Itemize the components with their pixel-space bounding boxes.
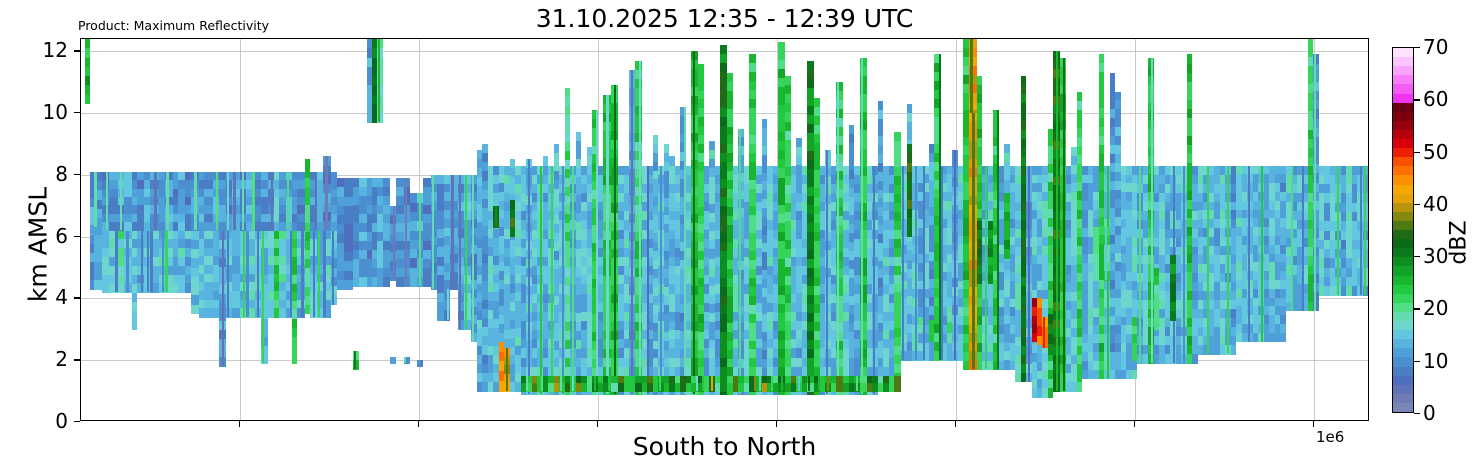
reflectivity-cell	[739, 129, 741, 395]
reflectivity-cell	[1231, 345, 1236, 355]
reflectivity-cell	[359, 277, 367, 287]
reflectivity-cell	[271, 172, 273, 231]
reflectivity-cell	[94, 172, 97, 228]
reflectivity-cell	[109, 222, 118, 231]
reflectivity-cell	[1043, 317, 1045, 348]
reflectivity-cell	[572, 376, 574, 391]
reflectivity-cell	[178, 283, 185, 292]
reflectivity-cell	[941, 166, 943, 361]
reflectivity-cell	[1063, 58, 1065, 392]
reflectivity-cell	[219, 222, 226, 231]
reflectivity-cell	[404, 357, 406, 363]
reflectivity-cell	[102, 283, 109, 292]
reflectivity-cell	[562, 166, 564, 395]
reflectivity-cell	[222, 231, 224, 367]
reflectivity-cell	[447, 289, 449, 320]
reflectivity-cell	[287, 172, 289, 231]
reflectivity-cell	[292, 354, 297, 363]
reflectivity-cell	[808, 376, 810, 391]
reflectivity-cell	[526, 376, 528, 391]
reflectivity-cell	[166, 172, 169, 231]
reflectivity-cell	[354, 351, 356, 370]
reflectivity-cell	[873, 166, 875, 395]
reflectivity-cell	[827, 376, 829, 391]
reflectivity-cell	[1192, 354, 1198, 364]
reflectivity-cell	[191, 305, 199, 315]
reflectivity-cell	[297, 222, 305, 231]
reflectivity-cell	[551, 166, 553, 395]
reflectivity-cell	[711, 376, 713, 391]
reflectivity-cell	[1183, 166, 1185, 364]
reflectivity-cell	[232, 308, 240, 317]
reflectivity-cell	[972, 113, 975, 369]
reflectivity-cell	[124, 222, 132, 231]
reflectivity-cell	[647, 166, 649, 395]
reflectivity-cell	[954, 150, 956, 360]
reflectivity-cell	[323, 231, 326, 317]
reflectivity-cell	[313, 231, 315, 317]
reflectivity-cell	[826, 150, 828, 394]
reflectivity-cell	[410, 277, 417, 287]
reflectivity-cell	[902, 166, 904, 361]
reflectivity-cell	[560, 376, 562, 391]
reflectivity-cell	[506, 348, 508, 391]
reflectivity-cell	[894, 383, 901, 391]
reflectivity-cell	[325, 156, 328, 230]
reflectivity-cell	[915, 166, 917, 361]
reflectivity-cell	[246, 231, 249, 317]
reflectivity-cell	[204, 222, 213, 231]
reflectivity-cell	[611, 383, 618, 391]
reflectivity-cell	[390, 357, 396, 364]
reflectivity-cell	[262, 231, 264, 364]
reflectivity-cell	[216, 172, 218, 231]
reflectivity-cell	[836, 383, 843, 391]
reflectivity-cell	[318, 231, 320, 317]
reflectivity-cell	[693, 51, 695, 394]
reflectivity-cell	[279, 222, 286, 231]
reflectivity-cell	[1105, 227, 1107, 280]
reflectivity-cell	[378, 39, 380, 122]
reflectivity-cell	[233, 172, 236, 231]
reflectivity-cell	[150, 231, 153, 293]
reflectivity-cell	[1139, 166, 1141, 364]
reflectivity-cell	[242, 172, 244, 231]
reflectivity-cell	[120, 172, 122, 231]
reflectivity-cell	[178, 222, 185, 231]
reflectivity-cell	[261, 222, 268, 231]
reflectivity-cell	[540, 166, 542, 395]
reflectivity-cell	[472, 175, 474, 342]
reflectivity-cell	[923, 166, 925, 361]
reflectivity-cell	[1056, 51, 1058, 391]
reflectivity-cell	[459, 175, 461, 329]
reflectivity-cell	[227, 172, 229, 231]
reflectivity-cell	[301, 231, 304, 317]
reflectivity-cell	[985, 166, 987, 370]
reflectivity-cell	[243, 231, 245, 317]
reflectivity-cell	[1077, 382, 1082, 392]
reflectivity-cell	[279, 308, 286, 317]
reflectivity-cell	[405, 178, 407, 286]
reflectivity-cell	[344, 280, 353, 290]
reflectivity-cell	[495, 206, 497, 228]
reflectivity-cell	[1028, 166, 1030, 382]
reflectivity-cell	[421, 360, 423, 366]
reflectivity-cell	[594, 376, 596, 391]
reflectivity-cell	[126, 231, 129, 293]
reflectivity-data-layer	[81, 39, 1368, 420]
reflectivity-cell	[1227, 166, 1229, 354]
reflectivity-cell	[85, 95, 90, 105]
reflectivity-cell	[257, 231, 259, 317]
reflectivity-cell	[572, 166, 574, 395]
reflectivity-cell	[419, 193, 421, 286]
reflectivity-cell	[606, 95, 609, 395]
reflectivity-cell	[720, 383, 727, 391]
reflectivity-cell	[528, 159, 530, 394]
reflectivity-cell	[94, 280, 102, 290]
reflectivity-cell	[396, 277, 404, 287]
reflectivity-cell	[861, 58, 863, 395]
reflectivity-cell	[451, 175, 454, 289]
reflectivity-cell	[465, 175, 467, 329]
reflectivity-cell	[106, 172, 108, 231]
reflectivity-cell	[154, 172, 157, 231]
reflectivity-cell	[147, 231, 149, 293]
reflectivity-cell	[759, 376, 761, 391]
reflectivity-cell	[659, 376, 661, 391]
reflectivity-cell	[798, 376, 800, 391]
reflectivity-cell	[860, 383, 867, 391]
reflectivity-cell	[393, 206, 395, 280]
reflectivity-cell	[337, 280, 344, 290]
reflectivity-cell	[781, 376, 783, 391]
reflectivity-cell	[1151, 58, 1153, 364]
reflectivity-cell	[165, 231, 168, 293]
reflectivity-cell	[856, 376, 858, 391]
reflectivity-cell	[194, 172, 197, 231]
reflectivity-cell	[204, 308, 213, 317]
reflectivity-cell	[437, 311, 444, 321]
reflectivity-cell	[141, 231, 143, 293]
reflectivity-cell	[132, 320, 137, 330]
reflectivity-cell	[227, 231, 229, 317]
reflectivity-cell	[432, 175, 434, 289]
reflectivity-cell	[631, 70, 633, 394]
reflectivity-cell	[137, 222, 144, 231]
plot-area	[80, 38, 1369, 421]
reflectivity-cell	[1132, 370, 1137, 379]
reflectivity-cell	[332, 231, 334, 305]
reflectivity-cell	[660, 166, 662, 395]
radar-cross-section-figure: Product: Maximum Reflectivity 31.10.2025…	[0, 0, 1482, 470]
reflectivity-cell	[423, 277, 431, 287]
reflectivity-cell	[614, 85, 616, 394]
reflectivity-cell	[639, 61, 641, 395]
reflectivity-cell	[162, 231, 164, 293]
page-title: 31.10.2025 12:35 - 12:39 UTC	[80, 4, 1369, 33]
reflectivity-cell	[635, 383, 642, 391]
reflectivity-cell	[837, 82, 839, 394]
reflectivity-cell	[383, 277, 390, 287]
